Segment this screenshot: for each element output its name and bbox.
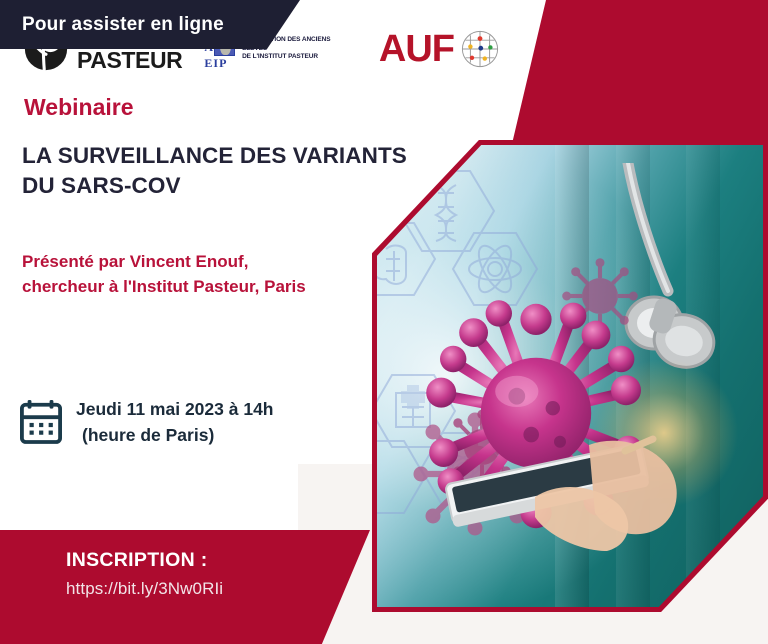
hexagon-photo (372, 140, 768, 612)
date-line1: Jeudi 11 mai 2023 à 14h (76, 399, 274, 419)
aaeip-letter-p: P (219, 57, 226, 69)
pasteur-wordmark-line2: PASTEUR (77, 49, 182, 71)
auf-wordmark: AUF (379, 30, 454, 68)
atom-icon (469, 241, 521, 297)
tablet-and-hands (439, 431, 699, 551)
registration-url[interactable]: https://bit.ly/3Nw0RIi (66, 579, 223, 599)
date-text: Jeudi 11 mai 2023 à 14h (heure de Paris) (76, 396, 274, 449)
aaeip-tagline-line2: DE L'INSTITUT PASTEUR (242, 53, 343, 62)
aaeip-letter-e: E (204, 57, 212, 69)
attend-online-label: Pour assister en ligne (0, 14, 224, 36)
presenter-line1: Présenté par Vincent Enouf, (22, 250, 422, 275)
presenter-block: Présenté par Vincent Enouf, chercheur à … (22, 250, 422, 299)
brain-icon (377, 246, 406, 284)
calendar-icon (20, 398, 62, 444)
aaeip-letter-i: I (213, 57, 218, 69)
presenter-line2: chercheur à l'Institut Pasteur, Paris (22, 275, 422, 300)
hexagon-photo-image (377, 145, 763, 607)
network-globe-icon (460, 29, 500, 69)
webinar-poster: INSTITUT PASTEUR A A E I (0, 0, 768, 644)
registration-label: INSCRIPTION : (66, 549, 223, 572)
registration-block: INSCRIPTION : https://bit.ly/3Nw0RIi (66, 549, 223, 599)
date-line2: (heure de Paris) (76, 422, 274, 448)
dna-helix-icon (436, 185, 456, 241)
date-row: Jeudi 11 mai 2023 à 14h (heure de Paris) (20, 396, 274, 449)
attend-online-banner: Pour assister en ligne (0, 0, 300, 49)
auf-logo: AUF (379, 29, 500, 69)
eyebrow-label: Webinaire (24, 94, 134, 121)
aaeip-letters-bottom: E I P (204, 57, 235, 69)
